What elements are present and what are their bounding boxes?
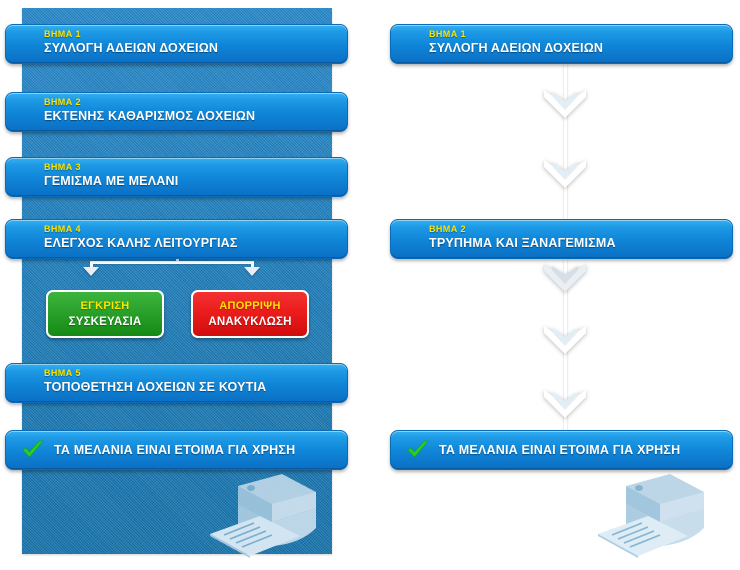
arrow-down-icon bbox=[83, 267, 99, 276]
left-step-3[interactable]: ΒΗΜΑ 3 ΓΕΜΙΣΜΑ ΜΕ ΜΕΛΑΝΙ bbox=[5, 157, 348, 197]
step-label: ΒΗΜΑ 1 bbox=[429, 29, 732, 40]
right-final-bar[interactable]: ΤΑ ΜΕΛΑΝΙΑ ΕΙΝΑΙ ΕΤΟΙΜΑ ΓΙΑ ΧΡΗΣΗ bbox=[390, 430, 733, 470]
right-step-1[interactable]: ΒΗΜΑ 1 ΣΥΛΛΟΓΗ ΑΔΕΙΩΝ ΔΟΧΕΙΩΝ bbox=[390, 24, 733, 64]
outcome-heading: ΕΓΚΡΙΣΗ bbox=[81, 299, 130, 314]
final-text: ΤΑ ΜΕΛΑΝΙΑ ΕΙΝΑΙ ΕΤΟΙΜΑ ΓΙΑ ΧΡΗΣΗ bbox=[54, 443, 295, 457]
step-title: ΕΚΤΕΝΗΣ ΚΑΘΑΡΙΣΜΟΣ ΔΟΧΕΙΩΝ bbox=[44, 108, 347, 124]
step-title: ΣΥΛΛΟΓΗ ΑΔΕΙΩΝ ΔΟΧΕΙΩΝ bbox=[429, 40, 732, 56]
right-step-2[interactable]: ΒΗΜΑ 2 ΤΡΥΠΗΜΑ ΚΑΙ ΞΑΝΑΓΕΜΙΣΜΑ bbox=[390, 219, 733, 259]
final-text: ΤΑ ΜΕΛΑΝΙΑ ΕΙΝΑΙ ΕΤΟΙΜΑ ΓΙΑ ΧΡΗΣΗ bbox=[439, 443, 680, 457]
step-title: ΣΥΛΛΟΓΗ ΑΔΕΙΩΝ ΔΟΧΕΙΩΝ bbox=[44, 40, 347, 56]
left-step-2[interactable]: ΒΗΜΑ 2 ΕΚΤΕΝΗΣ ΚΑΘΑΡΙΣΜΟΣ ΔΟΧΕΙΩΝ bbox=[5, 92, 348, 132]
left-step-4[interactable]: ΒΗΜΑ 4 ΕΛΕΓΧΟΣ ΚΑΛΗΣ ΛΕΙΤΟΥΡΓΙΑΣ bbox=[5, 219, 348, 259]
arrow-down-icon bbox=[542, 88, 588, 122]
left-step-5[interactable]: ΒΗΜΑ 5 ΤΟΠΟΘΕΤΗΣΗ ΔΟΧΕΙΩΝ ΣΕ ΚΟΥΤΙΑ bbox=[5, 363, 348, 403]
left-process-column: ΒΗΜΑ 1 ΣΥΛΛΟΓΗ ΑΔΕΙΩΝ ΔΟΧΕΙΩΝ ΒΗΜΑ 2 ΕΚΤ… bbox=[0, 0, 370, 570]
step-label: ΒΗΜΑ 4 bbox=[44, 224, 347, 235]
left-step-1[interactable]: ΒΗΜΑ 1 ΣΥΛΛΟΓΗ ΑΔΕΙΩΝ ΔΟΧΕΙΩΝ bbox=[5, 24, 348, 64]
arrow-down-icon bbox=[542, 324, 588, 358]
left-final-bar[interactable]: ΤΑ ΜΕΛΑΝΙΑ ΕΙΝΑΙ ΕΤΟΙΜΑ ΓΙΑ ΧΡΗΣΗ bbox=[5, 430, 348, 470]
arrow-down-icon bbox=[244, 267, 260, 276]
outcome-heading: ΑΠΟΡΡΙΨΗ bbox=[219, 299, 280, 314]
step-title: ΤΡΥΠΗΜΑ ΚΑΙ ΞΑΝΑΓΕΜΙΣΜΑ bbox=[429, 235, 732, 251]
step-title: ΤΟΠΟΘΕΤΗΣΗ ΔΟΧΕΙΩΝ ΣΕ ΚΟΥΤΙΑ bbox=[44, 379, 347, 395]
step-label: ΒΗΜΑ 3 bbox=[44, 162, 347, 173]
step-title: ΕΛΕΓΧΟΣ ΚΑΛΗΣ ΛΕΙΤΟΥΡΓΙΑΣ bbox=[44, 235, 347, 251]
outcome-approve[interactable]: ΕΓΚΡΙΣΗ ΣΥΣΚΕΥΑΣΙΑ bbox=[46, 290, 164, 338]
step-label: ΒΗΜΑ 2 bbox=[429, 224, 732, 235]
check-icon bbox=[20, 439, 46, 461]
arrow-down-icon bbox=[542, 388, 588, 422]
step-label: ΒΗΜΑ 1 bbox=[44, 29, 347, 40]
step-title: ΓΕΜΙΣΜΑ ΜΕ ΜΕΛΑΝΙ bbox=[44, 173, 347, 189]
diagram-stage: ΒΗΜΑ 1 ΣΥΛΛΟΓΗ ΑΔΕΙΩΝ ΔΟΧΕΙΩΝ ΒΗΜΑ 2 ΕΚΤ… bbox=[0, 0, 740, 570]
outcome-subtext: ΣΥΣΚΕΥΑΣΙΑ bbox=[69, 314, 142, 330]
printer-icon bbox=[596, 472, 716, 558]
printer-icon bbox=[208, 472, 328, 558]
step-label: ΒΗΜΑ 2 bbox=[44, 97, 347, 108]
outcome-subtext: ΑΝΑΚΥΚΛΩΣΗ bbox=[208, 314, 291, 330]
check-icon bbox=[405, 439, 431, 461]
arrow-down-icon bbox=[542, 158, 588, 192]
outcome-reject[interactable]: ΑΠΟΡΡΙΨΗ ΑΝΑΚΥΚΛΩΣΗ bbox=[191, 290, 309, 338]
step-label: ΒΗΜΑ 5 bbox=[44, 368, 347, 379]
branch-crossbar bbox=[90, 261, 252, 264]
arrow-down-icon bbox=[542, 262, 588, 296]
